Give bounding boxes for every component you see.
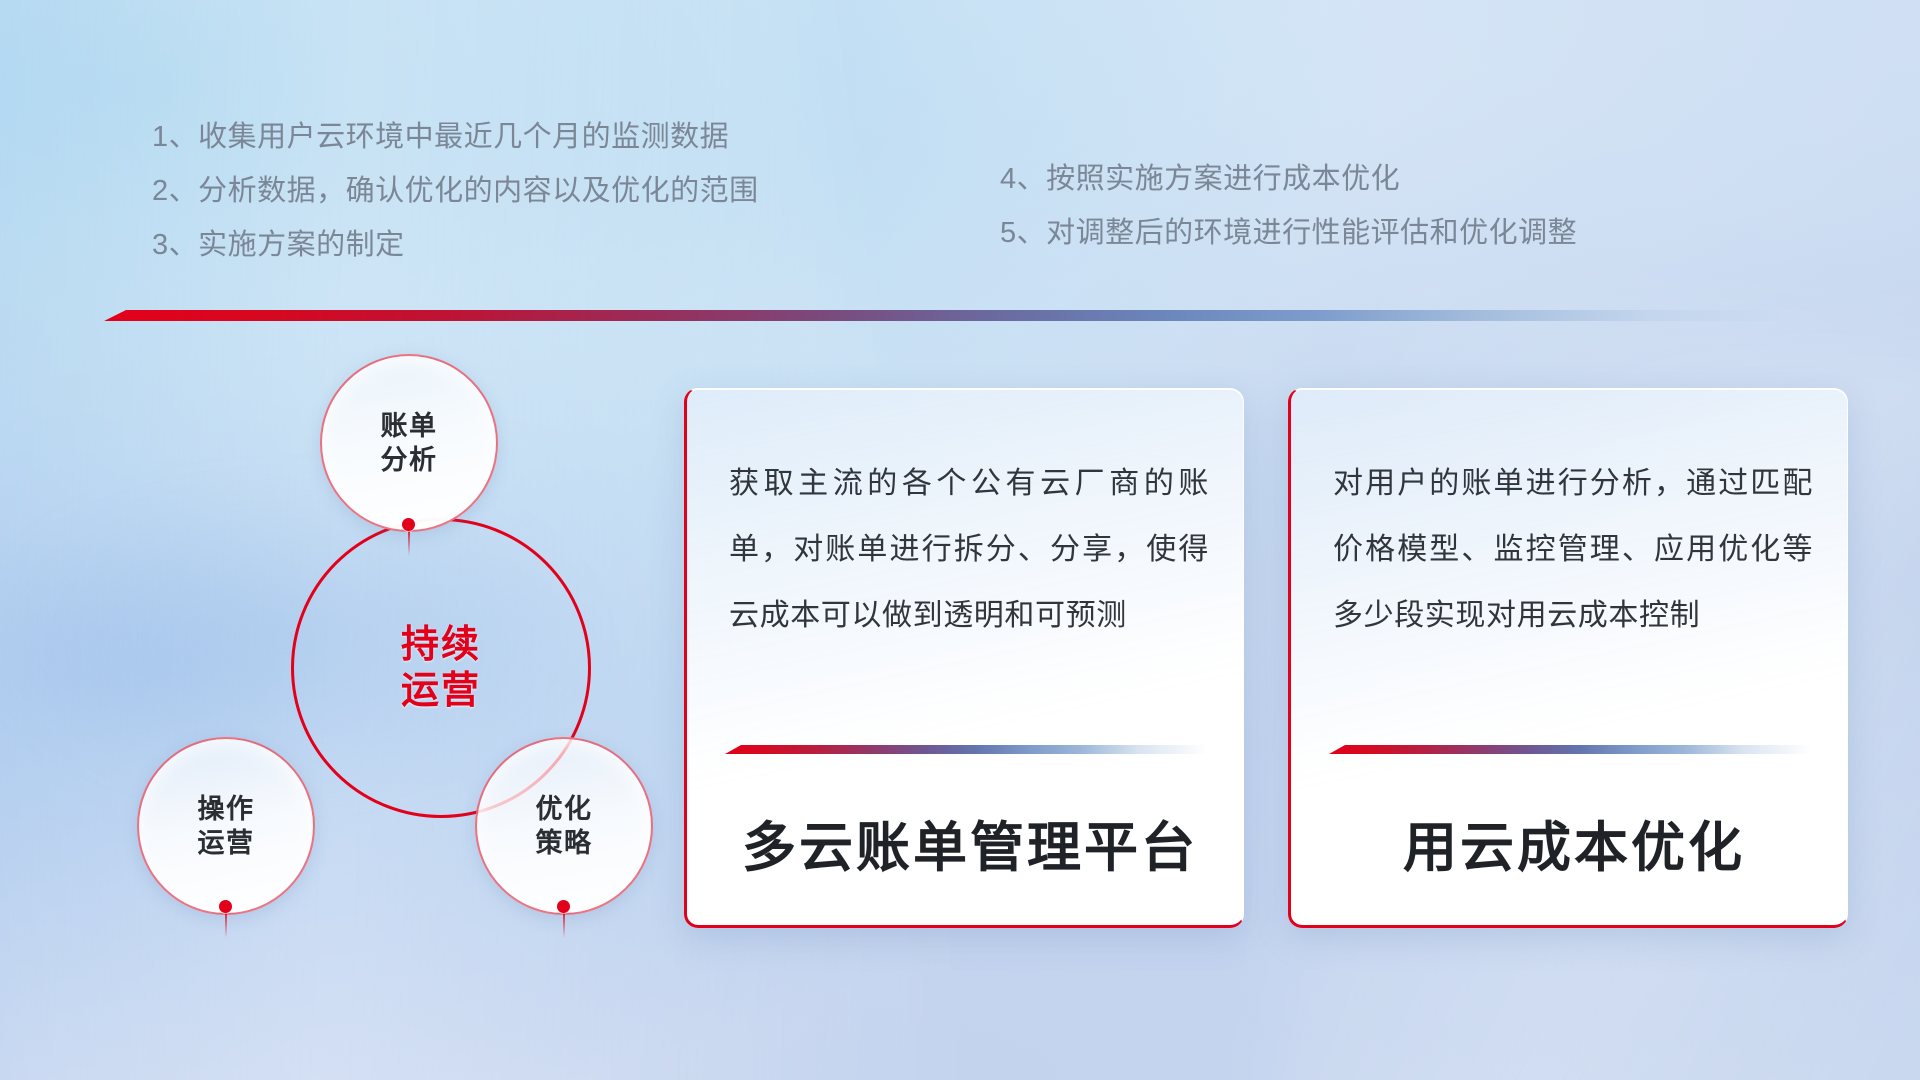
step-item-1: 1、收集用户云环境中最近几个月的监测数据 xyxy=(152,110,759,164)
connector-tail-bottom-left xyxy=(225,912,227,938)
step-item-3: 3、实施方案的制定 xyxy=(152,218,759,272)
card2-divider xyxy=(1329,745,1811,754)
steps-left-column: 1、收集用户云环境中最近几个月的监测数据 2、分析数据，确认优化的内容以及优化的… xyxy=(152,110,759,272)
connector-dot-top xyxy=(402,518,415,531)
center-label-line1: 持续 xyxy=(401,622,481,668)
step-item-4: 4、按照实施方案进行成本优化 xyxy=(1000,152,1577,206)
step-item-5: 5、对调整后的环境进行性能评估和优化调整 xyxy=(1000,206,1577,260)
connector-dot-bottom-left xyxy=(219,900,232,913)
bubble-bright-line2: 策略 xyxy=(536,826,593,860)
bubble-top-line1: 账单 xyxy=(381,409,438,443)
card1-title: 多云账单管理平台 xyxy=(727,803,1213,882)
venn-bubble-billing-analysis[interactable]: 账单 分析 xyxy=(320,354,498,532)
venn-diagram: 持续 运营 账单 分析 操作 运营 优化 策略 xyxy=(95,352,655,952)
bubble-bleft-line1: 操作 xyxy=(198,792,255,826)
connector-tail-bottom-right xyxy=(563,912,565,938)
step-item-2: 2、分析数据，确认优化的内容以及优化的范围 xyxy=(152,164,759,218)
card2-description: 对用户的账单进行分析，通过匹配价格模型、监控管理、应用优化等多少段实现对用云成本… xyxy=(1333,451,1813,649)
venn-bubble-operations[interactable]: 操作 运营 xyxy=(137,737,315,915)
connector-tail-top xyxy=(408,530,410,556)
feature-card-cloud-cost-optimization[interactable]: 对用户的账单进行分析，通过匹配价格模型、监控管理、应用优化等多少段实现对用云成本… xyxy=(1288,388,1848,928)
section-divider xyxy=(104,310,1784,321)
card1-description: 获取主流的各个公有云厂商的账单，对账单进行拆分、分享，使得云成本可以做到透明和可… xyxy=(729,451,1209,649)
bubble-bright-line1: 优化 xyxy=(536,792,593,826)
bubble-bleft-line2: 运营 xyxy=(198,826,255,860)
bubble-top-line2: 分析 xyxy=(381,443,438,477)
venn-bubble-optimization-strategy[interactable]: 优化 策略 xyxy=(475,737,653,915)
feature-card-multicloud-billing[interactable]: 获取主流的各个公有云厂商的账单，对账单进行拆分、分享，使得云成本可以做到透明和可… xyxy=(684,388,1244,928)
center-label-line2: 运营 xyxy=(401,668,481,714)
connector-dot-bottom-right xyxy=(557,900,570,913)
steps-right-column: 4、按照实施方案进行成本优化 5、对调整后的环境进行性能评估和优化调整 xyxy=(1000,152,1577,260)
card1-divider xyxy=(725,745,1207,754)
card2-title: 用云成本优化 xyxy=(1331,803,1817,882)
